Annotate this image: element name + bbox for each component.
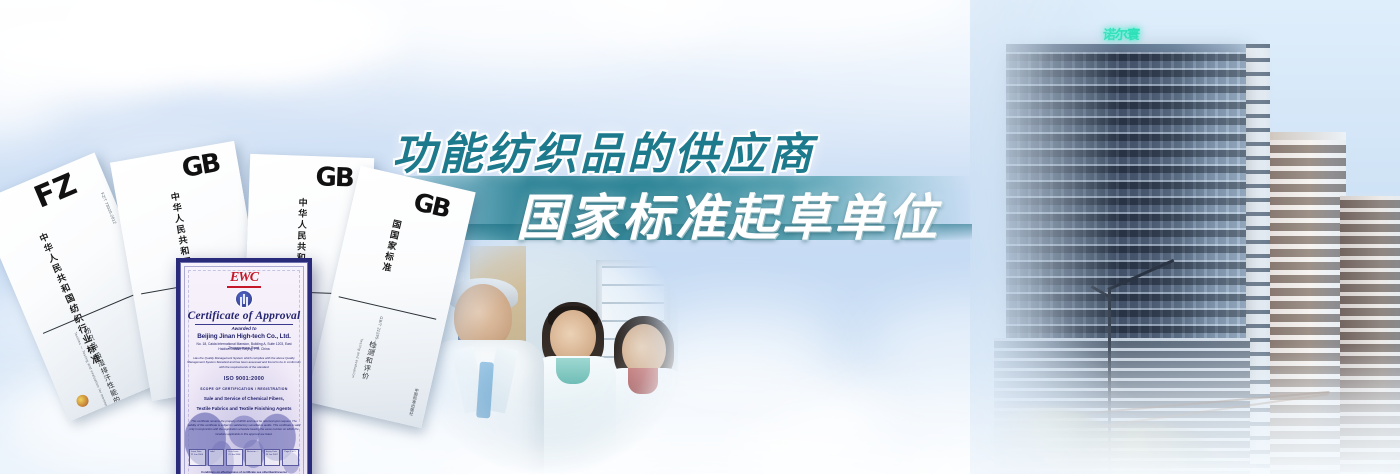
office-building-photo: 诺尔寰	[970, 0, 1400, 474]
certificate-company-name: Beijing Jinan High-tech Co., Ltd.	[187, 333, 301, 340]
certificate-footer-text: This certificate remains the property of…	[187, 419, 301, 436]
certificate-conditions-note: Conditions on effectiveness of certifica…	[187, 470, 301, 474]
divider	[339, 296, 437, 319]
awarded-to-label: Awarded to	[187, 326, 301, 331]
ewc-logo-text: EWC	[181, 270, 307, 286]
certificates-document-fan: FZ/T 73020-2012 FZ 中华人民共和国纺织行业标准 纺织品 吸湿排…	[0, 150, 470, 450]
national-emblem-icon	[75, 393, 91, 409]
document-publisher: 中国标准出版社	[408, 388, 420, 417]
certificate-date-cell: Page 1 of 1	[282, 449, 299, 466]
ewc-logo-underline	[227, 286, 261, 288]
certificate-date-cell: Valid	[208, 449, 225, 466]
certificate-scope-line2: Textile Fabrics and Textile Finishing Ag…	[187, 406, 301, 411]
certificate-title: Certificate of Approval	[181, 310, 307, 322]
certificate-standard: ISO 9001:2000	[187, 376, 301, 382]
certificate-date-cell: Re-issue —	[245, 449, 262, 466]
certificate-address-line2: Haidian District, Beijing, P.R. China	[187, 347, 301, 351]
certificate-date-grid: Issue Date 21 Jun 2004 Valid First Issue…	[189, 449, 299, 466]
document-title: 国国家标准	[379, 218, 404, 275]
headline-line-1: 功能纺织品的供应商	[392, 118, 815, 182]
certificate-body-text: Has the Quality Management System which …	[187, 356, 301, 369]
promo-banner: 诺尔寰	[0, 0, 1400, 474]
collar	[556, 358, 590, 384]
certificate-scope-line1: Sale and Service of Chemical Fibers,	[187, 396, 301, 401]
iso-certificate-of-approval: EWC Certificate of Approval Awarded to B…	[176, 258, 312, 474]
certificate-scope-header: SCOPE OF CERTIFICATION / REGISTRATION	[187, 387, 301, 391]
gb-mark: GB	[315, 164, 353, 191]
certificate-date-cell: Issue Date 21 Jun 2004	[189, 449, 206, 466]
certificate-title-rule	[195, 324, 293, 325]
certificate-date-cell: First Issue 21 Jun 2004	[226, 449, 243, 466]
headline-line-2: 国家标准起草单位	[516, 178, 940, 250]
document-subtitle: 纺织品 吸湿排汗性能的评价	[81, 326, 129, 421]
fz-mark: FZ	[30, 170, 81, 214]
anchor-badge-icon	[236, 291, 252, 307]
gb-mark: GB	[180, 150, 221, 182]
gb-mark: GB	[411, 189, 451, 221]
certificate-date-cell: Expiry Date 20 Jun 2007	[264, 449, 281, 466]
collar	[628, 368, 658, 394]
photo-left-fade	[970, 0, 1120, 474]
